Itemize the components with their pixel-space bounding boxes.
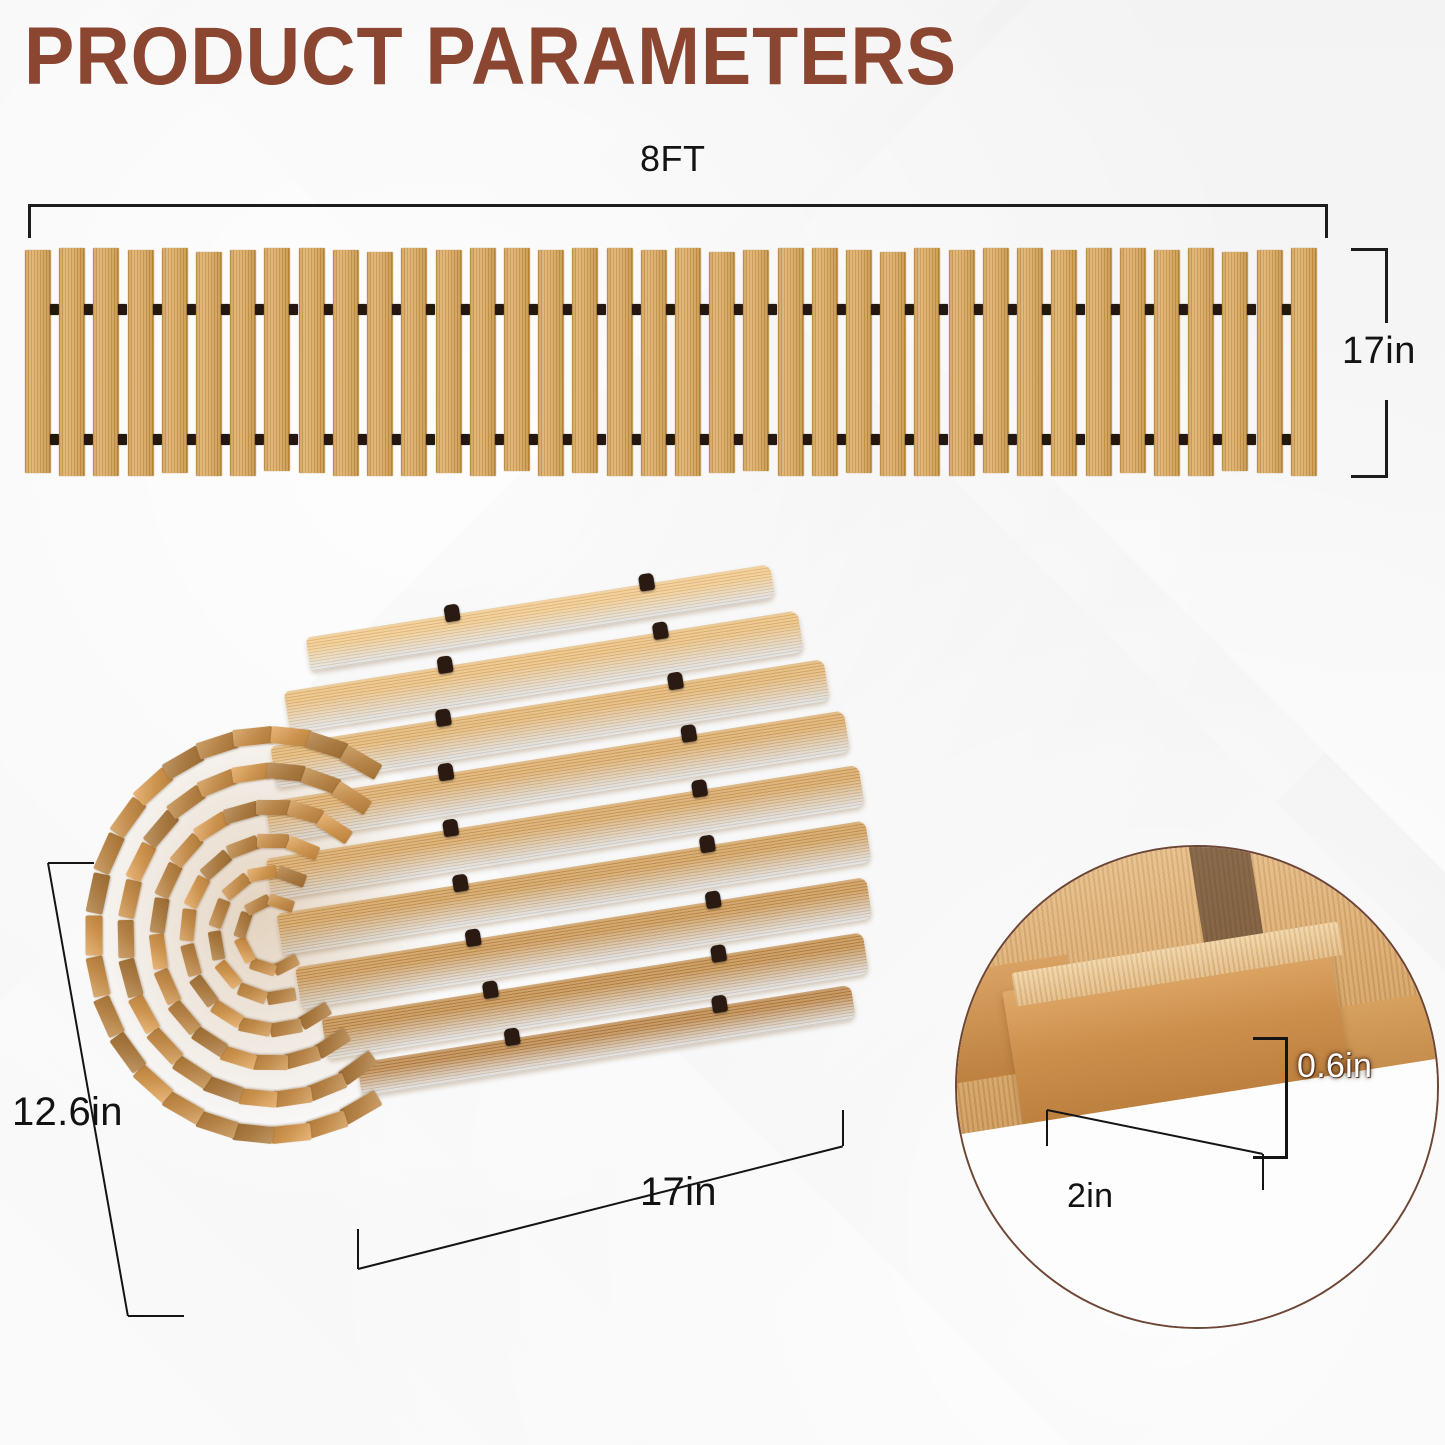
dimension-label-slat-width: 2in [1067, 1177, 1113, 1216]
mat-slat [778, 248, 804, 476]
roll-bolt [436, 655, 453, 674]
mat-slat [709, 252, 735, 473]
dimension-tick-thickness-top [1253, 1037, 1288, 1040]
mat-rivet [289, 304, 298, 315]
mat-slat [1154, 250, 1180, 476]
mat-rivet [1179, 434, 1188, 445]
roll-slat-end [257, 834, 289, 848]
dimension-tick-top [1351, 248, 1388, 251]
mat-slat [1120, 248, 1146, 473]
roll-slat-end [221, 872, 252, 900]
mat-rivet [324, 434, 333, 445]
mat-rivet [153, 304, 162, 315]
roll-slat-end [210, 1000, 245, 1029]
mat-slat [470, 248, 496, 476]
mat-slat [572, 248, 598, 473]
mat-rivet [255, 434, 264, 445]
roll-slat-end [253, 1055, 288, 1070]
roll-slat-end [222, 800, 260, 824]
roll-slat-end [225, 835, 260, 859]
roll-slat-end [118, 957, 143, 998]
mat-rivet [1179, 304, 1188, 315]
roll-slat-end [233, 1123, 275, 1144]
mat-rivet [221, 304, 230, 315]
roll-slat-end [332, 781, 373, 815]
roll-slat-end [316, 812, 353, 844]
roll-slat-end [128, 994, 160, 1035]
mat-slat [1257, 250, 1283, 473]
mat-rivet [1213, 434, 1222, 445]
dimension-tick-left [28, 204, 31, 238]
mat-slat [949, 250, 975, 476]
roll-slat-end [93, 832, 125, 875]
mat-rivet [1042, 304, 1051, 315]
dimension-line-width-upper [1385, 248, 1388, 323]
roll-slat-end [118, 919, 135, 957]
mat-rivet [1145, 434, 1154, 445]
mat-rivet [221, 434, 230, 445]
rolled-mat-illustration [95, 615, 885, 1255]
mat-slat [162, 248, 188, 473]
mat-slat [675, 248, 701, 476]
roll-slat-end [339, 745, 382, 780]
roll-slat-end [273, 1086, 313, 1107]
mat-slat [230, 250, 256, 476]
mat-rivet [700, 304, 709, 315]
mat-slat [367, 252, 393, 476]
mat-rivet [1282, 434, 1291, 445]
mat-rivet [1213, 304, 1222, 315]
mat-rivet [905, 434, 914, 445]
dimension-tick-slat-right [1262, 1154, 1264, 1190]
mat-rivet [700, 434, 709, 445]
mat-rivet [1008, 304, 1017, 315]
roll-slat-end [237, 983, 269, 1005]
mat-rivet [118, 304, 127, 315]
roll-slat-end [266, 988, 297, 1006]
roll-slat-end [93, 994, 125, 1037]
mat-rivet [495, 304, 504, 315]
mat-rivet [1247, 434, 1256, 445]
mat-rivet [734, 434, 743, 445]
roll-slat-end [180, 908, 197, 941]
mat-rivet [734, 304, 743, 315]
roll-bolt [680, 724, 697, 743]
mat-rivet [84, 304, 93, 315]
mat-rivet [1282, 304, 1291, 315]
roll-bolt [437, 762, 454, 781]
roll-slat-end [256, 800, 291, 815]
roll-bolt [442, 818, 459, 837]
mat-rivet [597, 304, 606, 315]
mat-rivet [392, 304, 401, 315]
mat-rivet [358, 434, 367, 445]
roll-slat-end [269, 1018, 303, 1037]
dimension-tick-roll-left [357, 1229, 359, 1269]
roll-slat-end [247, 864, 278, 882]
mat-rivet [632, 304, 641, 315]
mat-rivet [1111, 434, 1120, 445]
mat-rivet [837, 304, 846, 315]
dimension-tick-right [1325, 204, 1328, 238]
dimension-line-width-lower [1385, 400, 1388, 478]
mat-slat [983, 248, 1009, 473]
roll-bolt [465, 928, 482, 947]
mat-rivet [974, 304, 983, 315]
mat-rivet [939, 304, 948, 315]
roll-slat-end [149, 897, 169, 934]
roll-bolt [709, 944, 726, 963]
dimension-label-width: 17in [1342, 330, 1416, 373]
mat-slat [743, 250, 769, 471]
mat-slat [607, 248, 633, 476]
mat-slat [93, 248, 119, 476]
flat-mat-illustration [25, 248, 1325, 476]
dimension-label-thickness: 0.6in [1297, 1047, 1372, 1086]
mat-rivet [1111, 304, 1120, 315]
roll-slat-end [233, 726, 275, 747]
mat-rivet [871, 434, 880, 445]
mat-rivet [187, 304, 196, 315]
dimension-tick-roll-right [842, 1110, 844, 1146]
mat-rivet [392, 434, 401, 445]
roll-slat-end [109, 1031, 146, 1073]
mat-slat [1222, 252, 1248, 471]
roll-bolt [482, 980, 499, 999]
mat-rivet [939, 434, 948, 445]
roll-slat-end [238, 1017, 272, 1037]
roll-slat-end [86, 915, 103, 955]
mat-rivet [1247, 304, 1256, 315]
mat-rivet [358, 304, 367, 315]
roll-bolt [451, 873, 468, 892]
mat-rivet [905, 304, 914, 315]
roll-bolt [705, 890, 722, 909]
mat-rivet [1076, 434, 1085, 445]
mat-slat [1291, 248, 1317, 476]
mat-rivet [666, 304, 675, 315]
mat-slat [25, 250, 51, 473]
roll-slat-end [298, 1001, 333, 1029]
mat-rivet [768, 304, 777, 315]
mat-rivet [50, 434, 59, 445]
mat-rivet [1008, 434, 1017, 445]
mat-rivet [632, 434, 641, 445]
mat-slat [1086, 248, 1112, 476]
mat-rivet [118, 434, 127, 445]
roll-slat-end [126, 842, 157, 883]
roll-slat-end [234, 936, 256, 965]
roll-slat-end [146, 1027, 184, 1066]
mat-rivet [461, 434, 470, 445]
roll-slat-end [276, 865, 308, 887]
mat-rivet [84, 434, 93, 445]
mat-slat [812, 248, 838, 476]
mat-slat [264, 248, 290, 471]
mat-rivet [563, 304, 572, 315]
roll-bolt [443, 603, 460, 622]
roll-bolt [699, 834, 716, 853]
mat-rivet [803, 304, 812, 315]
roll-slat-end [286, 835, 321, 860]
roll-bolt [667, 671, 684, 690]
roll-bolt [435, 708, 452, 727]
dimension-line-thickness [1285, 1037, 1288, 1159]
dimension-tick-thickness-bottom [1253, 1156, 1288, 1159]
roll-slat-end [284, 1046, 322, 1070]
mat-rivet [1042, 434, 1051, 445]
roll-slat-end [305, 1110, 348, 1139]
roll-bolt [652, 621, 669, 640]
mat-rivet [426, 434, 435, 445]
mat-slat [1017, 248, 1043, 476]
mat-rivet [529, 304, 538, 315]
mat-slat [880, 252, 906, 476]
roll-slat-end [267, 893, 295, 912]
mat-rivet [666, 434, 675, 445]
mat-slat [333, 250, 359, 476]
mat-slat [538, 250, 564, 476]
roll-slat-end [208, 897, 230, 929]
mat-slat [401, 248, 427, 476]
mat-slat [299, 248, 325, 473]
roll-slat-end [118, 879, 142, 920]
mat-rivet [871, 304, 880, 315]
detail-inset-circle: 0.6in 2in [955, 845, 1439, 1329]
dimension-label-roll-diameter: 12.6in [12, 1090, 123, 1135]
mat-slat [914, 248, 940, 476]
mat-slat [1188, 248, 1214, 476]
dimension-line-length-top [28, 204, 1328, 207]
dimension-tick-roll-top [48, 862, 94, 864]
dimension-label-length: 8FT [640, 138, 706, 180]
dimension-tick-roll-bottom [128, 1315, 184, 1317]
mat-slat [1051, 250, 1077, 476]
dimension-tick-bottom [1351, 475, 1388, 478]
roll-slat-end [149, 933, 168, 970]
mat-slat [59, 248, 85, 476]
roll-slat-end [270, 1123, 312, 1144]
roll-slat-end [180, 942, 202, 977]
roll-slat-end [208, 930, 226, 961]
mat-slat [436, 250, 462, 473]
roll-bolt [691, 779, 708, 798]
roll-slat-end [154, 968, 182, 1006]
mat-rivet [461, 304, 470, 315]
mat-slat [128, 250, 154, 476]
mat-slat [504, 248, 530, 471]
mat-rivet [324, 304, 333, 315]
mat-rivet [495, 434, 504, 445]
mat-rivet [597, 434, 606, 445]
mat-rivet [974, 434, 983, 445]
roll-slat-end [231, 763, 271, 784]
mat-rivet [255, 304, 264, 315]
mat-rivet [153, 434, 162, 445]
mat-slat [641, 250, 667, 476]
roll-bolt [638, 573, 655, 592]
mat-rivet [1076, 304, 1085, 315]
mat-rivet [768, 434, 777, 445]
roll-spiral-end-face [107, 735, 437, 1135]
page-title: PRODUCT PARAMETERS [24, 14, 957, 100]
roll-slat-end [238, 1088, 277, 1108]
mat-slat [846, 250, 872, 473]
mat-rivet [837, 434, 846, 445]
roll-bolt [503, 1027, 520, 1046]
mat-rivet [426, 304, 435, 315]
mat-rivet [289, 434, 298, 445]
mat-rivet [50, 304, 59, 315]
mat-rivet [187, 434, 196, 445]
roll-bolt [711, 994, 728, 1013]
mat-rivet [803, 434, 812, 445]
mat-rivet [529, 434, 538, 445]
dimension-tick-slat-left [1046, 1110, 1048, 1146]
mat-slat [196, 252, 222, 476]
mat-rivet [563, 434, 572, 445]
roll-slat-end [189, 974, 219, 1008]
mat-rivet [1145, 304, 1154, 315]
